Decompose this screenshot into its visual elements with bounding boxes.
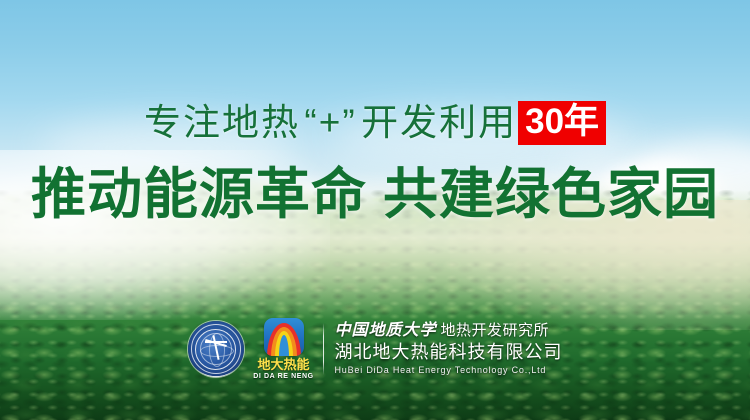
headline-plus-quoted: “+”: [304, 102, 356, 143]
university-seal-icon: [188, 321, 244, 377]
footer-bar: 地大热能 DI DA RE NENG 中国地质大学 地热开发研究所 湖北地大热能…: [0, 316, 750, 382]
institute-name: 地热开发研究所: [441, 322, 550, 340]
rainbow-arc-icon: [264, 318, 304, 356]
dida-logo-en: DI DA RE NENG: [253, 372, 313, 381]
company-name-cn: 湖北地大热能科技有限公司: [335, 341, 563, 363]
organization-info: 中国地质大学 地热开发研究所 湖北地大热能科技有限公司 HuBei DiDa H…: [335, 322, 563, 376]
promo-banner: 专注地热 “+” 开发利用30年 推动能源革命共建绿色家园: [0, 0, 750, 420]
dida-logo: 地大热能 DI DA RE NENG: [253, 318, 315, 381]
company-name-en: HuBei DiDa Heat Energy Technology Co.,Lt…: [335, 364, 563, 376]
logo-group: 地大热能 DI DA RE NENG: [188, 318, 315, 381]
headline-secondary-left: 推动能源革命: [31, 163, 367, 225]
headline-secondary-right: 共建绿色家园: [383, 163, 719, 225]
dida-logo-cn: 地大热能: [257, 358, 309, 372]
footer-divider: [323, 323, 324, 375]
headline-middle: 开发利用: [361, 102, 517, 143]
headline-prefix: 专注地热: [144, 102, 300, 143]
university-name: 中国地质大学: [335, 322, 437, 340]
headline-secondary: 推动能源革命共建绿色家园: [0, 163, 750, 225]
headline-primary: 专注地热 “+” 开发利用30年: [0, 101, 750, 145]
anniversary-badge: 30年: [518, 101, 606, 145]
organization-line-1: 中国地质大学 地热开发研究所: [335, 322, 563, 340]
